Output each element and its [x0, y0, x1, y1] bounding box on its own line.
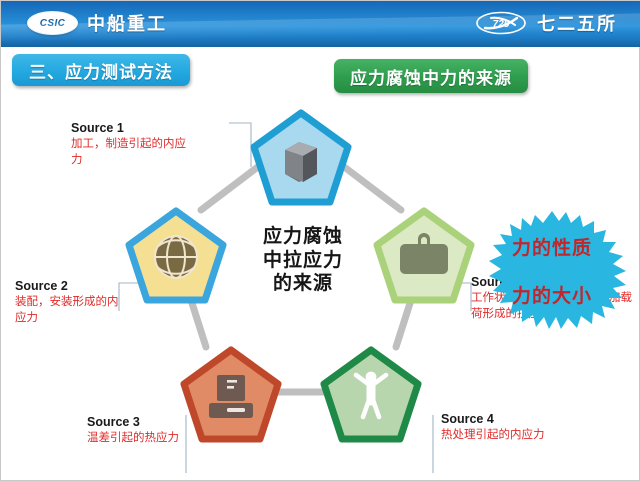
callout-source-2: Source 2 装配，安装形成的内应力: [15, 279, 119, 326]
section-title-label: 三、应力测试方法: [29, 58, 173, 83]
csic-logo-icon: CSIC: [27, 11, 78, 35]
brand-right: 725 七二五所: [475, 10, 617, 36]
topic-title-label: 应力腐蚀中力的来源: [350, 64, 512, 89]
callout-source-4: Source 4 热处理引起的内应力: [441, 412, 569, 443]
company-name-right: 七二五所: [537, 10, 617, 36]
callout-source-4-desc: 热处理引起的内应力: [441, 427, 569, 443]
globe-icon: [155, 236, 197, 278]
center-line-2: 中拉应力: [233, 249, 373, 273]
node-source-2[interactable]: [129, 211, 223, 300]
company-name-left: 中船重工: [87, 10, 167, 36]
callout-source-1-title: Source 1: [71, 121, 191, 135]
callout-source-4-title: Source 4: [441, 412, 569, 426]
starburst-line-1: 力的性质: [473, 239, 631, 258]
node-source-1[interactable]: [254, 113, 348, 202]
callout-source-1-desc: 加工，制造引起的内应力: [71, 136, 191, 168]
header-banner: CSIC 中船重工 725 七二五所: [1, 1, 640, 47]
svg-text:725: 725: [493, 19, 510, 30]
callout-source-2-title: Source 2: [15, 279, 119, 293]
institute-725-logo-icon: 725: [475, 11, 527, 35]
starburst-callout: 力的性质 力的大小: [473, 209, 631, 349]
topic-title-box: 应力腐蚀中力的来源: [334, 59, 528, 93]
callout-source-3: Source 3 温差引起的热应力: [87, 415, 179, 446]
node-source-3[interactable]: [184, 350, 278, 439]
pentagon-cycle-diagram: 应力腐蚀 中拉应力 的来源 Source 1 加工，制造引起的内应力 Sourc…: [1, 97, 640, 477]
starburst-shape: [489, 211, 626, 329]
slide-canvas: CSIC 中船重工 725 七二五所 三、应力测试方法 应力腐蚀中力的来源: [0, 0, 640, 481]
brand-left: CSIC 中船重工: [27, 10, 167, 36]
center-line-1: 应力腐蚀: [233, 225, 373, 249]
callout-source-3-title: Source 3: [87, 415, 179, 429]
node-source-4[interactable]: [324, 350, 418, 439]
diagram-center-label: 应力腐蚀 中拉应力 的来源: [233, 225, 373, 296]
node-source-5[interactable]: [377, 211, 471, 300]
callout-source-1: Source 1 加工，制造引起的内应力: [71, 121, 191, 168]
starburst-line-2: 力的大小: [473, 287, 631, 306]
section-title-tab: 三、应力测试方法: [12, 54, 190, 86]
center-line-3: 的来源: [233, 272, 373, 296]
cube-icon: [285, 142, 317, 182]
callout-source-3-desc: 温差引起的热应力: [87, 430, 179, 446]
callout-source-2-desc: 装配，安装形成的内应力: [15, 294, 119, 326]
csic-logo-mark: CSIC: [40, 18, 66, 29]
